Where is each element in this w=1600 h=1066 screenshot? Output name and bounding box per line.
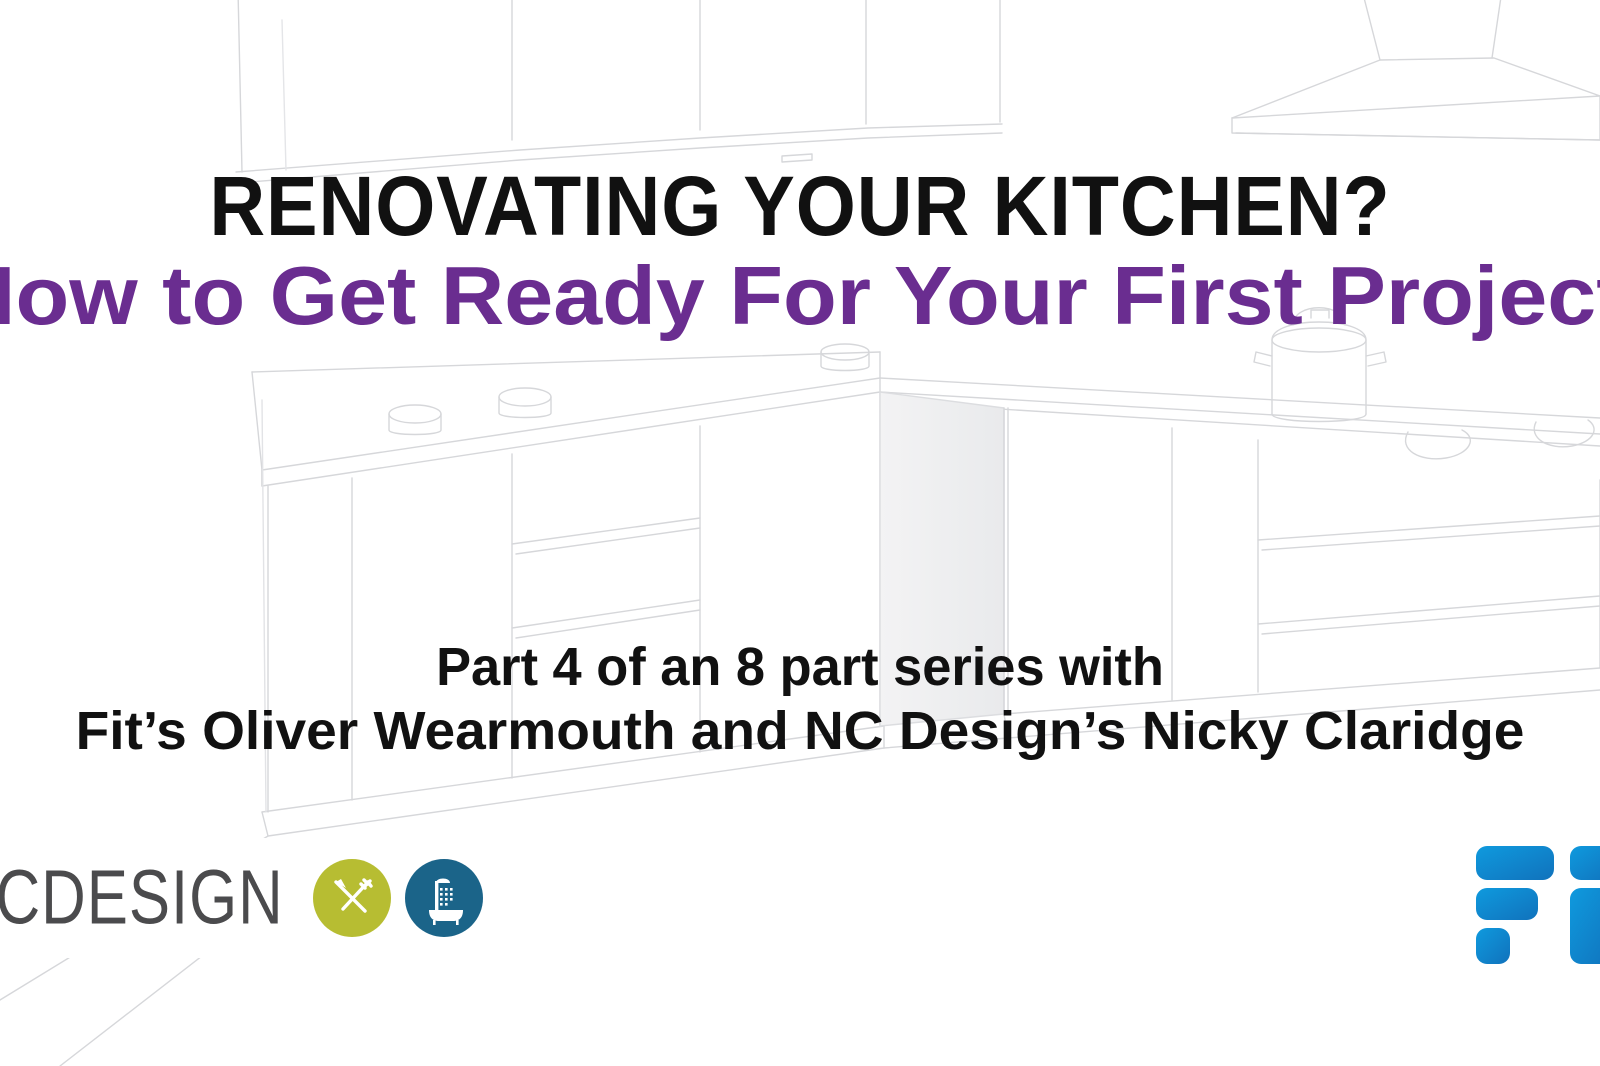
series-part-label: Part 4 of an 8 part series with <box>24 636 1576 700</box>
page-title: RENOVATING YOUR KITCHEN? <box>64 158 1536 255</box>
ncdesign-logo[interactable]: NCDESIGN <box>0 838 368 958</box>
credits-block: Part 4 of an 8 part series with Fit’s Ol… <box>0 636 1600 763</box>
ncdesign-wordmark: NCDESIGN <box>0 854 284 942</box>
page-subtitle: How to Get Ready For Your First Project … <box>0 248 1600 344</box>
kitchen-badge-icon <box>313 859 391 937</box>
fit-logo[interactable] <box>1468 836 1600 1006</box>
presentation-slide: RENOVATING YOUR KITCHEN? How to Get Read… <box>0 0 1600 1066</box>
bathroom-badge-icon <box>405 859 483 937</box>
presenters-label: Fit’s Oliver Wearmouth and NC Design’s N… <box>0 700 1600 764</box>
